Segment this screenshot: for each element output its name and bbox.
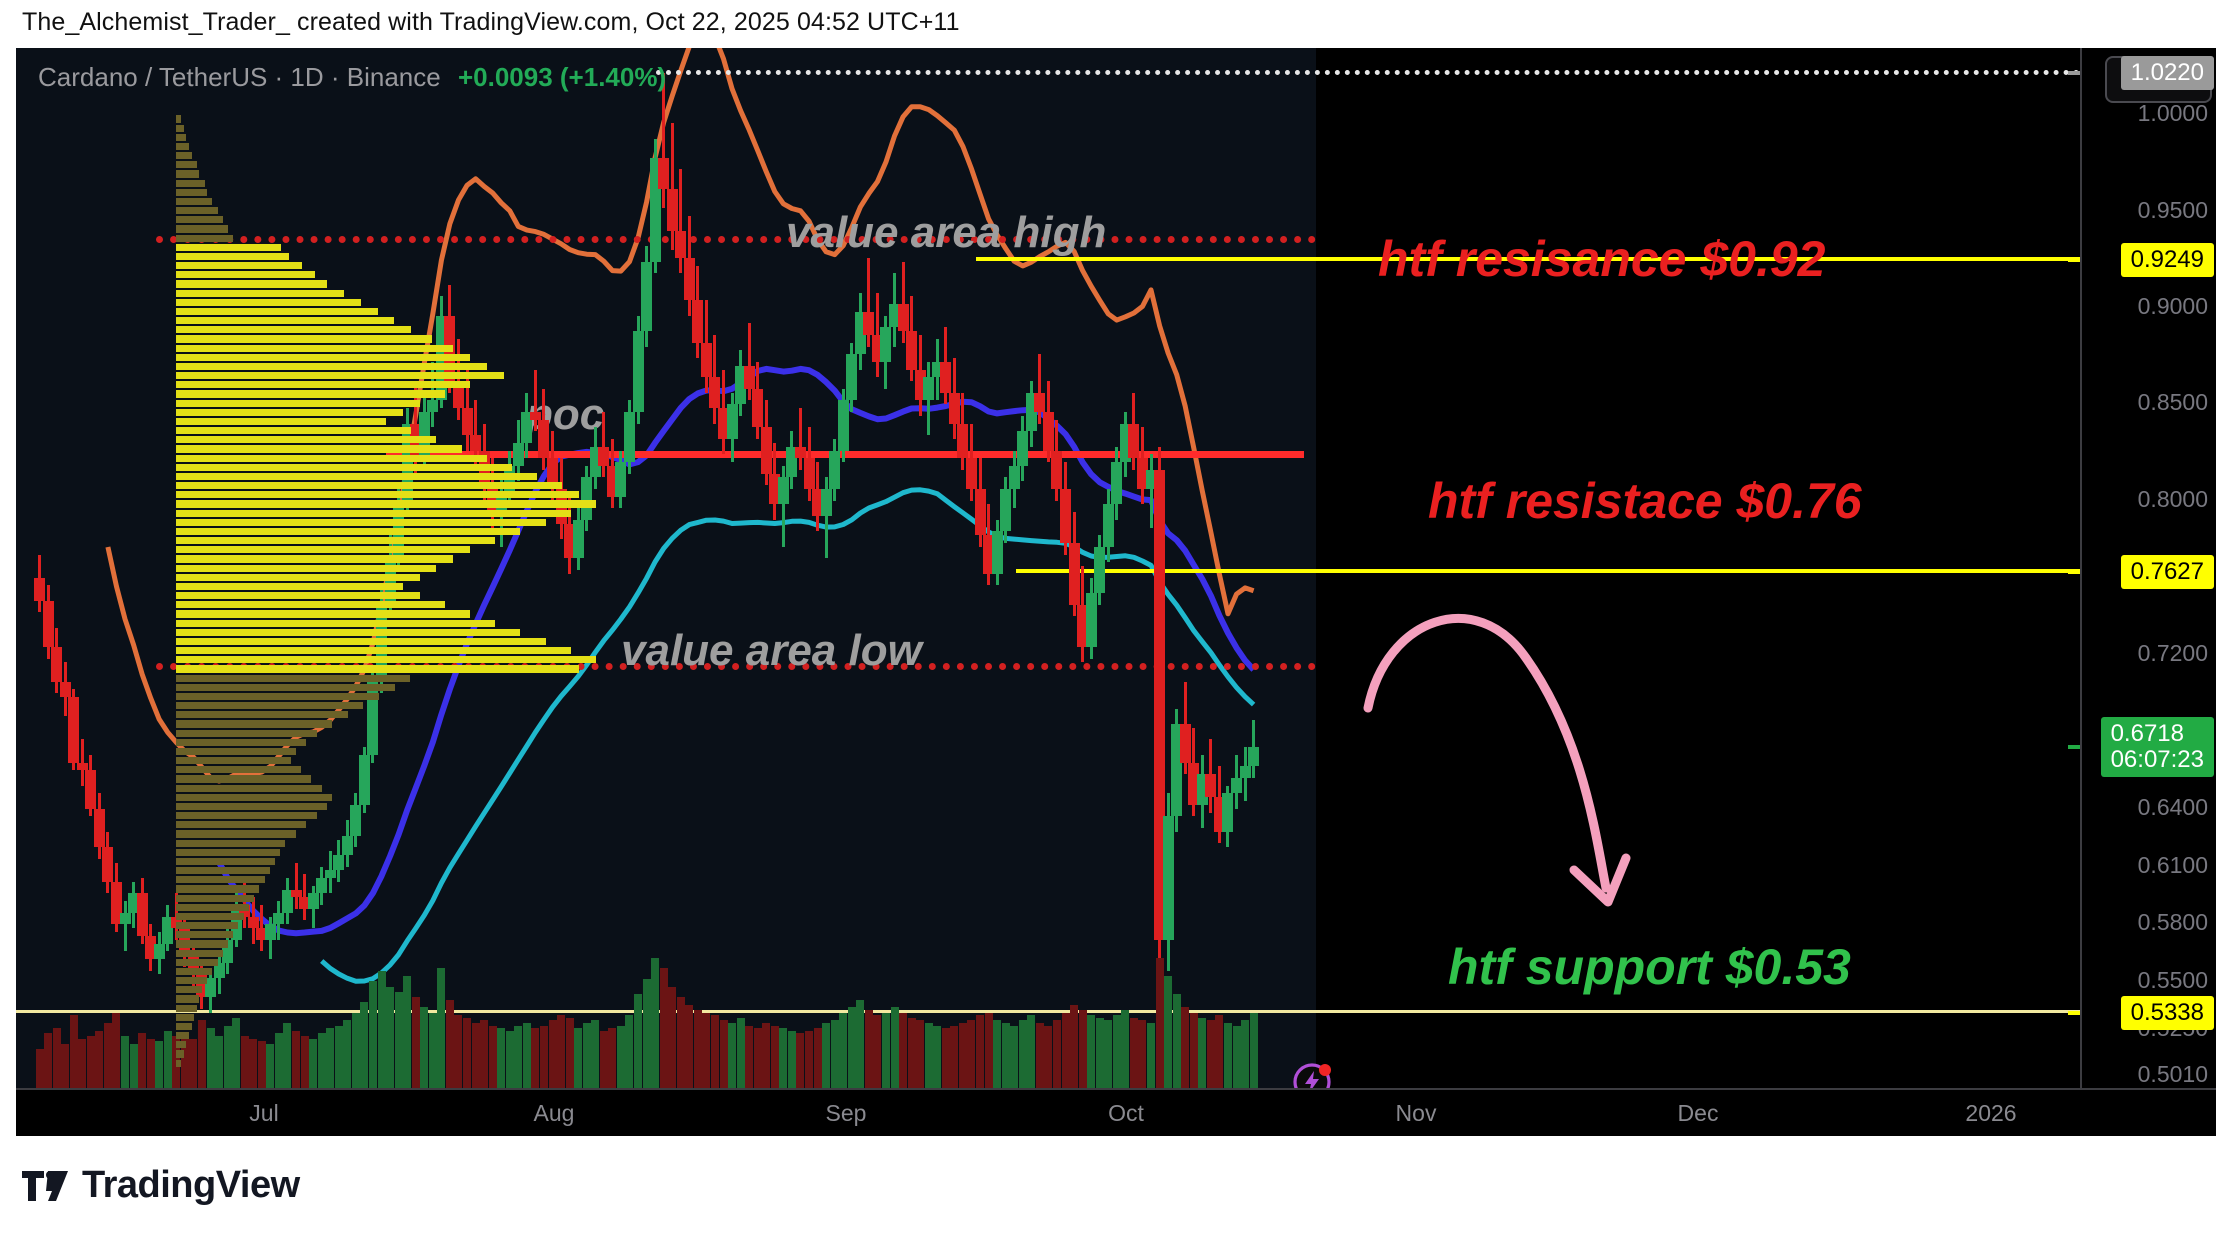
volume-bar <box>1147 1023 1155 1088</box>
volume-bar <box>1224 1023 1232 1088</box>
volume-bar <box>198 1020 206 1088</box>
price-tick-label: 0.5800 <box>2138 909 2208 936</box>
volume-bar <box>514 1026 522 1088</box>
volume-profile-row-value-area <box>176 427 411 434</box>
price-tick-label: 1.0000 <box>2138 100 2208 127</box>
volume-bar <box>1053 1020 1061 1088</box>
volume-profile-row-value-area <box>176 546 470 553</box>
volume-bar <box>249 1039 257 1088</box>
volume-bar <box>292 1031 300 1088</box>
volume-bar <box>1173 994 1181 1088</box>
volume-profile-row-value-area <box>176 317 394 324</box>
volume-profile-row-value-area <box>176 491 579 498</box>
volume-bar <box>1087 1015 1095 1088</box>
volume-bar <box>87 1036 95 1088</box>
price-tick-label: 0.7200 <box>2138 640 2208 667</box>
volume-bar <box>335 1026 343 1088</box>
volume-profile-row-value-area <box>176 308 378 315</box>
volume-bar <box>711 1015 719 1088</box>
volume-profile-row <box>176 730 317 737</box>
volume-profile-row-value-area <box>176 390 445 397</box>
ma-cyan <box>322 490 1254 981</box>
time-tick-label: Jul <box>249 1100 278 1127</box>
price-tick-label: 0.5500 <box>2138 967 2208 994</box>
volume-bar <box>95 1031 103 1088</box>
volume-bar <box>1113 1015 1121 1088</box>
volume-bar <box>1019 1020 1027 1088</box>
volume-bar <box>472 1023 480 1088</box>
volume-bar <box>540 1026 548 1088</box>
volume-profile-row-value-area <box>176 473 537 480</box>
volume-profile-row <box>176 794 332 801</box>
volume-profile-row <box>176 189 207 196</box>
volume-bar <box>1062 1013 1070 1088</box>
volume-bar <box>412 997 420 1088</box>
volume-profile-row-value-area <box>176 262 302 269</box>
volume-bar <box>1207 1020 1215 1088</box>
tradingview-logo-icon <box>22 1171 68 1201</box>
tradingview-wordmark: TradingView <box>82 1164 300 1207</box>
volume-profile-row-value-area <box>176 555 453 562</box>
volume-bar <box>685 1005 693 1088</box>
volume-profile-row <box>176 702 363 709</box>
alert-badge-icon[interactable] <box>1292 1058 1336 1088</box>
volume-profile-row <box>176 977 207 984</box>
volume-profile-row <box>176 959 218 966</box>
volume-profile-row-value-area <box>176 638 546 645</box>
volume-profile-row-value-area <box>176 244 281 251</box>
volume-profile-row <box>176 775 311 782</box>
symbol-name: Cardano / TetherUS · 1D · Binance <box>38 62 441 92</box>
volume-bar <box>155 1041 163 1088</box>
volume-profile-row <box>176 161 197 168</box>
level-value-area-high <box>156 236 1316 243</box>
volume-bar <box>608 1028 616 1088</box>
volume-profile-row-value-area <box>176 464 512 471</box>
annotation-value-area-low: value area low <box>621 626 922 676</box>
volume-profile-row-value-area <box>176 381 470 388</box>
volume-bar <box>634 994 642 1088</box>
volume-profile-row-value-area <box>176 418 386 425</box>
volume-bar <box>53 1028 61 1088</box>
volume-profile-row <box>176 684 395 691</box>
volume-bar <box>437 968 445 1088</box>
volume-profile-row <box>176 876 265 883</box>
volume-profile-row-value-area <box>176 565 436 572</box>
volume-bar <box>189 1039 197 1088</box>
volume-profile-row <box>176 1060 181 1067</box>
volume-profile-row <box>176 1041 186 1048</box>
price-tick-label: 0.5010 <box>2138 1061 2208 1088</box>
volume-bar <box>908 1018 916 1088</box>
volume-profile-row-value-area <box>176 372 504 379</box>
level-htf-support-053 <box>16 1010 2080 1013</box>
time-axis[interactable]: JulAugSepOctNovDec2026 <box>16 1088 2216 1136</box>
chart-frame: value area high poc value area low htf r… <box>16 48 2216 1136</box>
volume-profile-row-value-area <box>176 409 403 416</box>
volume-bar <box>454 1015 462 1088</box>
volume-bar <box>36 1049 44 1088</box>
volume-profile-row-value-area <box>176 345 453 352</box>
volume-profile-row <box>176 1023 192 1030</box>
volume-bar <box>369 981 377 1088</box>
volume-bar <box>104 1023 112 1088</box>
time-tick-label: Dec <box>1678 1100 1719 1127</box>
volume-bar <box>771 1026 779 1088</box>
axis-tick-marker <box>2068 1011 2080 1015</box>
price-tick-label: 0.8000 <box>2138 486 2208 513</box>
volume-bar <box>745 1026 753 1088</box>
volume-bar <box>360 1002 368 1088</box>
volume-profile-row-value-area <box>176 482 562 489</box>
volume-profile-row <box>176 720 332 727</box>
volume-profile-row <box>176 830 296 837</box>
volume-profile-row-value-area <box>176 436 436 443</box>
price-tick-label: 0.9500 <box>2138 197 2208 224</box>
price-badge-resistance-high[interactable]: 0.9249 <box>2121 243 2214 277</box>
volume-bar <box>668 987 676 1088</box>
volume-bar <box>976 1015 984 1088</box>
volume-bar <box>574 1028 582 1088</box>
volume-bar <box>429 1013 437 1088</box>
volume-profile-row-value-area <box>176 656 596 663</box>
volume-bar <box>651 958 659 1088</box>
volume-profile-row <box>176 931 233 938</box>
volume-profile-row <box>176 922 238 929</box>
volume-bar <box>796 1033 804 1088</box>
volume-bar <box>1027 1015 1035 1088</box>
volume-bar <box>446 1000 454 1088</box>
volume-bar <box>566 1018 574 1088</box>
footer-branding: TradingView <box>22 1164 300 1207</box>
volume-bar <box>848 1007 856 1088</box>
axis-tick-marker <box>2068 71 2080 75</box>
symbol-legend[interactable]: Cardano / TetherUS · 1D · Binance +0.009… <box>38 62 666 93</box>
annotation-htf-resistance-092: htf resisance $0.92 <box>1378 230 1826 288</box>
annotation-value-area-high: value area high <box>786 208 1106 258</box>
volume-profile-row <box>176 180 205 187</box>
time-tick-label: 2026 <box>1965 1100 2016 1127</box>
volume-bar <box>1215 1015 1223 1088</box>
volume-profile-row <box>176 940 228 947</box>
volume-bar <box>865 1010 873 1088</box>
volume-bar <box>1121 1010 1129 1088</box>
volume-profile-row-value-area <box>176 280 327 287</box>
volume-profile-row-value-area <box>176 629 520 636</box>
volume-bar <box>70 1015 78 1088</box>
volume-profile-row-value-area <box>176 592 420 599</box>
volume-profile-row-value-area <box>176 253 289 260</box>
volume-bar <box>839 1013 847 1088</box>
volume-bar <box>275 1033 283 1088</box>
volume-profile-row <box>176 766 301 773</box>
volume-bar <box>822 1023 830 1088</box>
volume-bar <box>232 1018 240 1088</box>
projection-arrow-icon <box>1346 558 1626 918</box>
axis-tick-marker <box>2068 258 2080 262</box>
volume-profile-row-value-area <box>176 665 579 672</box>
volume-bar <box>600 1031 608 1088</box>
volume-profile-row <box>176 748 296 755</box>
volume-profile-row-value-area <box>176 335 432 342</box>
volume-bar <box>959 1023 967 1088</box>
volume-bar <box>326 1028 334 1088</box>
price-tick-label: 0.6400 <box>2138 794 2208 821</box>
volume-bar <box>702 1013 710 1088</box>
volume-bar <box>643 979 651 1088</box>
volume-profile-row-value-area <box>176 610 470 617</box>
volume-profile-row <box>176 785 322 792</box>
volume-bar <box>403 976 411 1088</box>
volume-bar <box>61 1044 69 1088</box>
volume-bar <box>497 1028 505 1088</box>
volume-bar <box>942 1028 950 1088</box>
level-chart-high <box>656 70 2080 75</box>
volume-profile-row <box>176 225 228 232</box>
volume-bar <box>343 1020 351 1088</box>
volume-bar <box>1070 1005 1078 1088</box>
volume-profile-row-value-area <box>176 326 411 333</box>
volume-bar <box>224 1026 232 1088</box>
price-badge-chart-high[interactable]: 1.0220 <box>2121 56 2214 90</box>
volume-bar <box>1104 1020 1112 1088</box>
volume-profile-row <box>176 895 254 902</box>
volume-bar <box>985 1013 993 1088</box>
volume-profile-row <box>176 143 189 150</box>
axis-tick-marker <box>2068 745 2080 749</box>
volume-bar <box>130 1044 138 1088</box>
volume-profile-row <box>176 170 199 177</box>
volume-bar <box>617 1026 625 1088</box>
volume-bar <box>1130 1018 1138 1088</box>
volume-bar <box>301 1036 309 1088</box>
volume-profile-row <box>176 904 249 911</box>
volume-profile-row <box>176 152 192 159</box>
volume-bar <box>950 1026 958 1088</box>
axis-tick-marker <box>2068 570 2080 574</box>
volume-bar <box>1164 976 1172 1088</box>
volume-bar <box>677 997 685 1088</box>
price-change: +0.0093 (+1.40%) <box>458 62 666 92</box>
volume-bar <box>1198 1018 1206 1088</box>
volume-bar <box>112 1013 120 1088</box>
volume-bar <box>78 1039 86 1088</box>
price-badge-support[interactable]: 0.5338 <box>2121 996 2214 1030</box>
price-badge-resistance-low[interactable]: 0.7627 <box>2121 555 2214 589</box>
volume-bar <box>489 1026 497 1088</box>
volume-profile-row <box>176 216 223 223</box>
volume-bar <box>916 1020 924 1088</box>
volume-bar <box>523 1023 531 1088</box>
chart-plot-area[interactable]: value area high poc value area low htf r… <box>16 48 2080 1088</box>
volume-profile-row <box>176 950 223 957</box>
volume-profile-row-value-area <box>176 519 546 526</box>
volume-bar <box>720 1020 728 1088</box>
annotation-htf-support-053: htf support $0.53 <box>1448 938 1851 996</box>
volume-profile-row <box>176 757 291 764</box>
volume-profile-row-value-area <box>176 445 462 452</box>
volume-bar <box>386 987 394 1088</box>
volume-profile-row <box>176 986 202 993</box>
price-axis[interactable]: USDT 1.00000.95000.90000.85000.80000.720… <box>2080 48 2216 1088</box>
volume-bar <box>266 1044 274 1088</box>
volume-bar <box>309 1039 317 1088</box>
time-tick-label: Nov <box>1396 1100 1437 1127</box>
volume-bar <box>1241 1020 1249 1088</box>
price-tick-label: 0.8500 <box>2138 389 2208 416</box>
annotation-htf-resistance-076: htf resistace $0.76 <box>1428 472 1862 530</box>
volume-bar <box>694 1010 702 1088</box>
volume-bar <box>395 992 403 1088</box>
volume-profile-row <box>176 675 410 682</box>
volume-bar <box>318 1033 326 1088</box>
volume-profile-row <box>176 812 317 819</box>
price-tick-label: 0.6100 <box>2138 852 2208 879</box>
volume-bar <box>583 1023 591 1088</box>
volume-bar <box>557 1015 565 1088</box>
volume-bar <box>463 1018 471 1088</box>
volume-profile-row-value-area <box>176 620 495 627</box>
volume-profile-row <box>176 125 184 132</box>
volume-profile-row <box>176 803 327 810</box>
volume-bar <box>899 1013 907 1088</box>
volume-bar <box>591 1020 599 1088</box>
volume-bar <box>258 1041 266 1088</box>
time-tick-label: Oct <box>1108 1100 1144 1127</box>
volume-profile-row-value-area <box>176 299 361 306</box>
volume-profile-row <box>176 115 181 122</box>
volume-profile-row <box>176 849 280 856</box>
volume-profile-row-value-area <box>176 574 420 581</box>
volume-bar <box>779 1028 787 1088</box>
price-badge-last-price[interactable]: 0.671806:07:23 <box>2101 717 2214 777</box>
volume-bar <box>420 1007 428 1088</box>
volume-profile-row-value-area <box>176 647 571 654</box>
volume-bar <box>531 1028 539 1088</box>
volume-profile-row-value-area <box>176 290 344 297</box>
volume-bar <box>1250 1013 1258 1088</box>
volume-bar <box>762 1023 770 1088</box>
volume-profile-row <box>176 198 212 205</box>
volume-profile-row-value-area <box>176 601 445 608</box>
volume-bar <box>1044 1026 1052 1088</box>
attribution-text: The_Alchemist_Trader_ created with Tradi… <box>22 8 960 37</box>
volume-profile-row-value-area <box>176 537 495 544</box>
volume-profile-row <box>176 995 199 1002</box>
volume-bar <box>891 1007 899 1088</box>
volume-bar <box>625 1015 633 1088</box>
volume-bar <box>873 1015 881 1088</box>
volume-bar <box>754 1028 762 1088</box>
volume-bar <box>882 1013 890 1088</box>
volume-profile-row-value-area <box>176 455 487 462</box>
volume-bar <box>378 971 386 1088</box>
volume-bar <box>506 1031 514 1088</box>
volume-bar <box>1079 1010 1087 1088</box>
volume-profile-row <box>176 1014 194 1021</box>
volume-bar <box>1181 1007 1189 1088</box>
volume-bar <box>925 1023 933 1088</box>
volume-profile-row <box>176 235 233 242</box>
volume-profile-row-value-area <box>176 528 520 535</box>
volume-profile-row-value-area <box>176 400 420 407</box>
volume-profile-row <box>176 711 348 718</box>
volume-bar <box>1010 1026 1018 1088</box>
volume-bar <box>993 1020 1001 1088</box>
volume-bar <box>728 1023 736 1088</box>
volume-bar <box>147 1039 155 1088</box>
volume-profile-row <box>176 858 275 865</box>
volume-bar <box>121 1036 129 1088</box>
volume-profile-row-value-area <box>176 583 403 590</box>
volume-profile-row <box>176 1032 189 1039</box>
volume-bar <box>831 1020 839 1088</box>
volume-bar <box>814 1028 822 1088</box>
volume-profile-row <box>176 693 379 700</box>
volume-bar <box>805 1031 813 1088</box>
volume-profile-row <box>176 739 306 746</box>
volume-profile-row <box>176 867 270 874</box>
time-tick-label: Sep <box>826 1100 867 1127</box>
volume-bar <box>1233 1026 1241 1088</box>
volume-bar <box>352 1013 360 1088</box>
volume-bar <box>737 1018 745 1088</box>
volume-profile-row <box>176 885 259 892</box>
volume-profile-row <box>176 207 218 214</box>
price-tick-label: 0.9000 <box>2138 293 2208 320</box>
volume-bar <box>480 1020 488 1088</box>
volume-profile-row-value-area <box>176 271 315 278</box>
volume-bar <box>1036 1023 1044 1088</box>
volume-profile-row <box>176 134 186 141</box>
volume-bar <box>1138 1020 1146 1088</box>
volume-bar <box>1096 1018 1104 1088</box>
volume-bar <box>788 1031 796 1088</box>
volume-bar <box>1190 1013 1198 1088</box>
screenshot-root: The_Alchemist_Trader_ created with Tradi… <box>0 0 2232 1250</box>
volume-bar <box>549 1020 557 1088</box>
volume-profile-row-value-area <box>176 510 571 517</box>
volume-profile-row <box>176 821 306 828</box>
volume-bar <box>138 1033 146 1088</box>
volume-bar <box>967 1020 975 1088</box>
volume-bar <box>164 1031 172 1088</box>
volume-bar <box>933 1026 941 1088</box>
volume-profile-row <box>176 1050 184 1057</box>
volume-bar <box>207 1028 215 1088</box>
volume-profile-row-value-area <box>176 500 596 507</box>
volume-profile-row-value-area <box>176 363 487 370</box>
time-tick-label: Aug <box>534 1100 575 1127</box>
volume-bar <box>44 1033 52 1088</box>
volume-profile-row <box>176 913 244 920</box>
volume-bar <box>241 1036 249 1088</box>
volume-bar <box>1156 958 1164 1088</box>
volume-profile-row <box>176 1005 197 1012</box>
volume-profile-row-value-area <box>176 354 470 361</box>
volume-profile-row <box>176 968 212 975</box>
volume-bar <box>856 1000 864 1088</box>
volume-bar <box>1002 1023 1010 1088</box>
volume-bar <box>660 968 668 1088</box>
volume-profile-row <box>176 840 285 847</box>
volume-bar <box>283 1023 291 1088</box>
volume-bar <box>215 1036 223 1088</box>
